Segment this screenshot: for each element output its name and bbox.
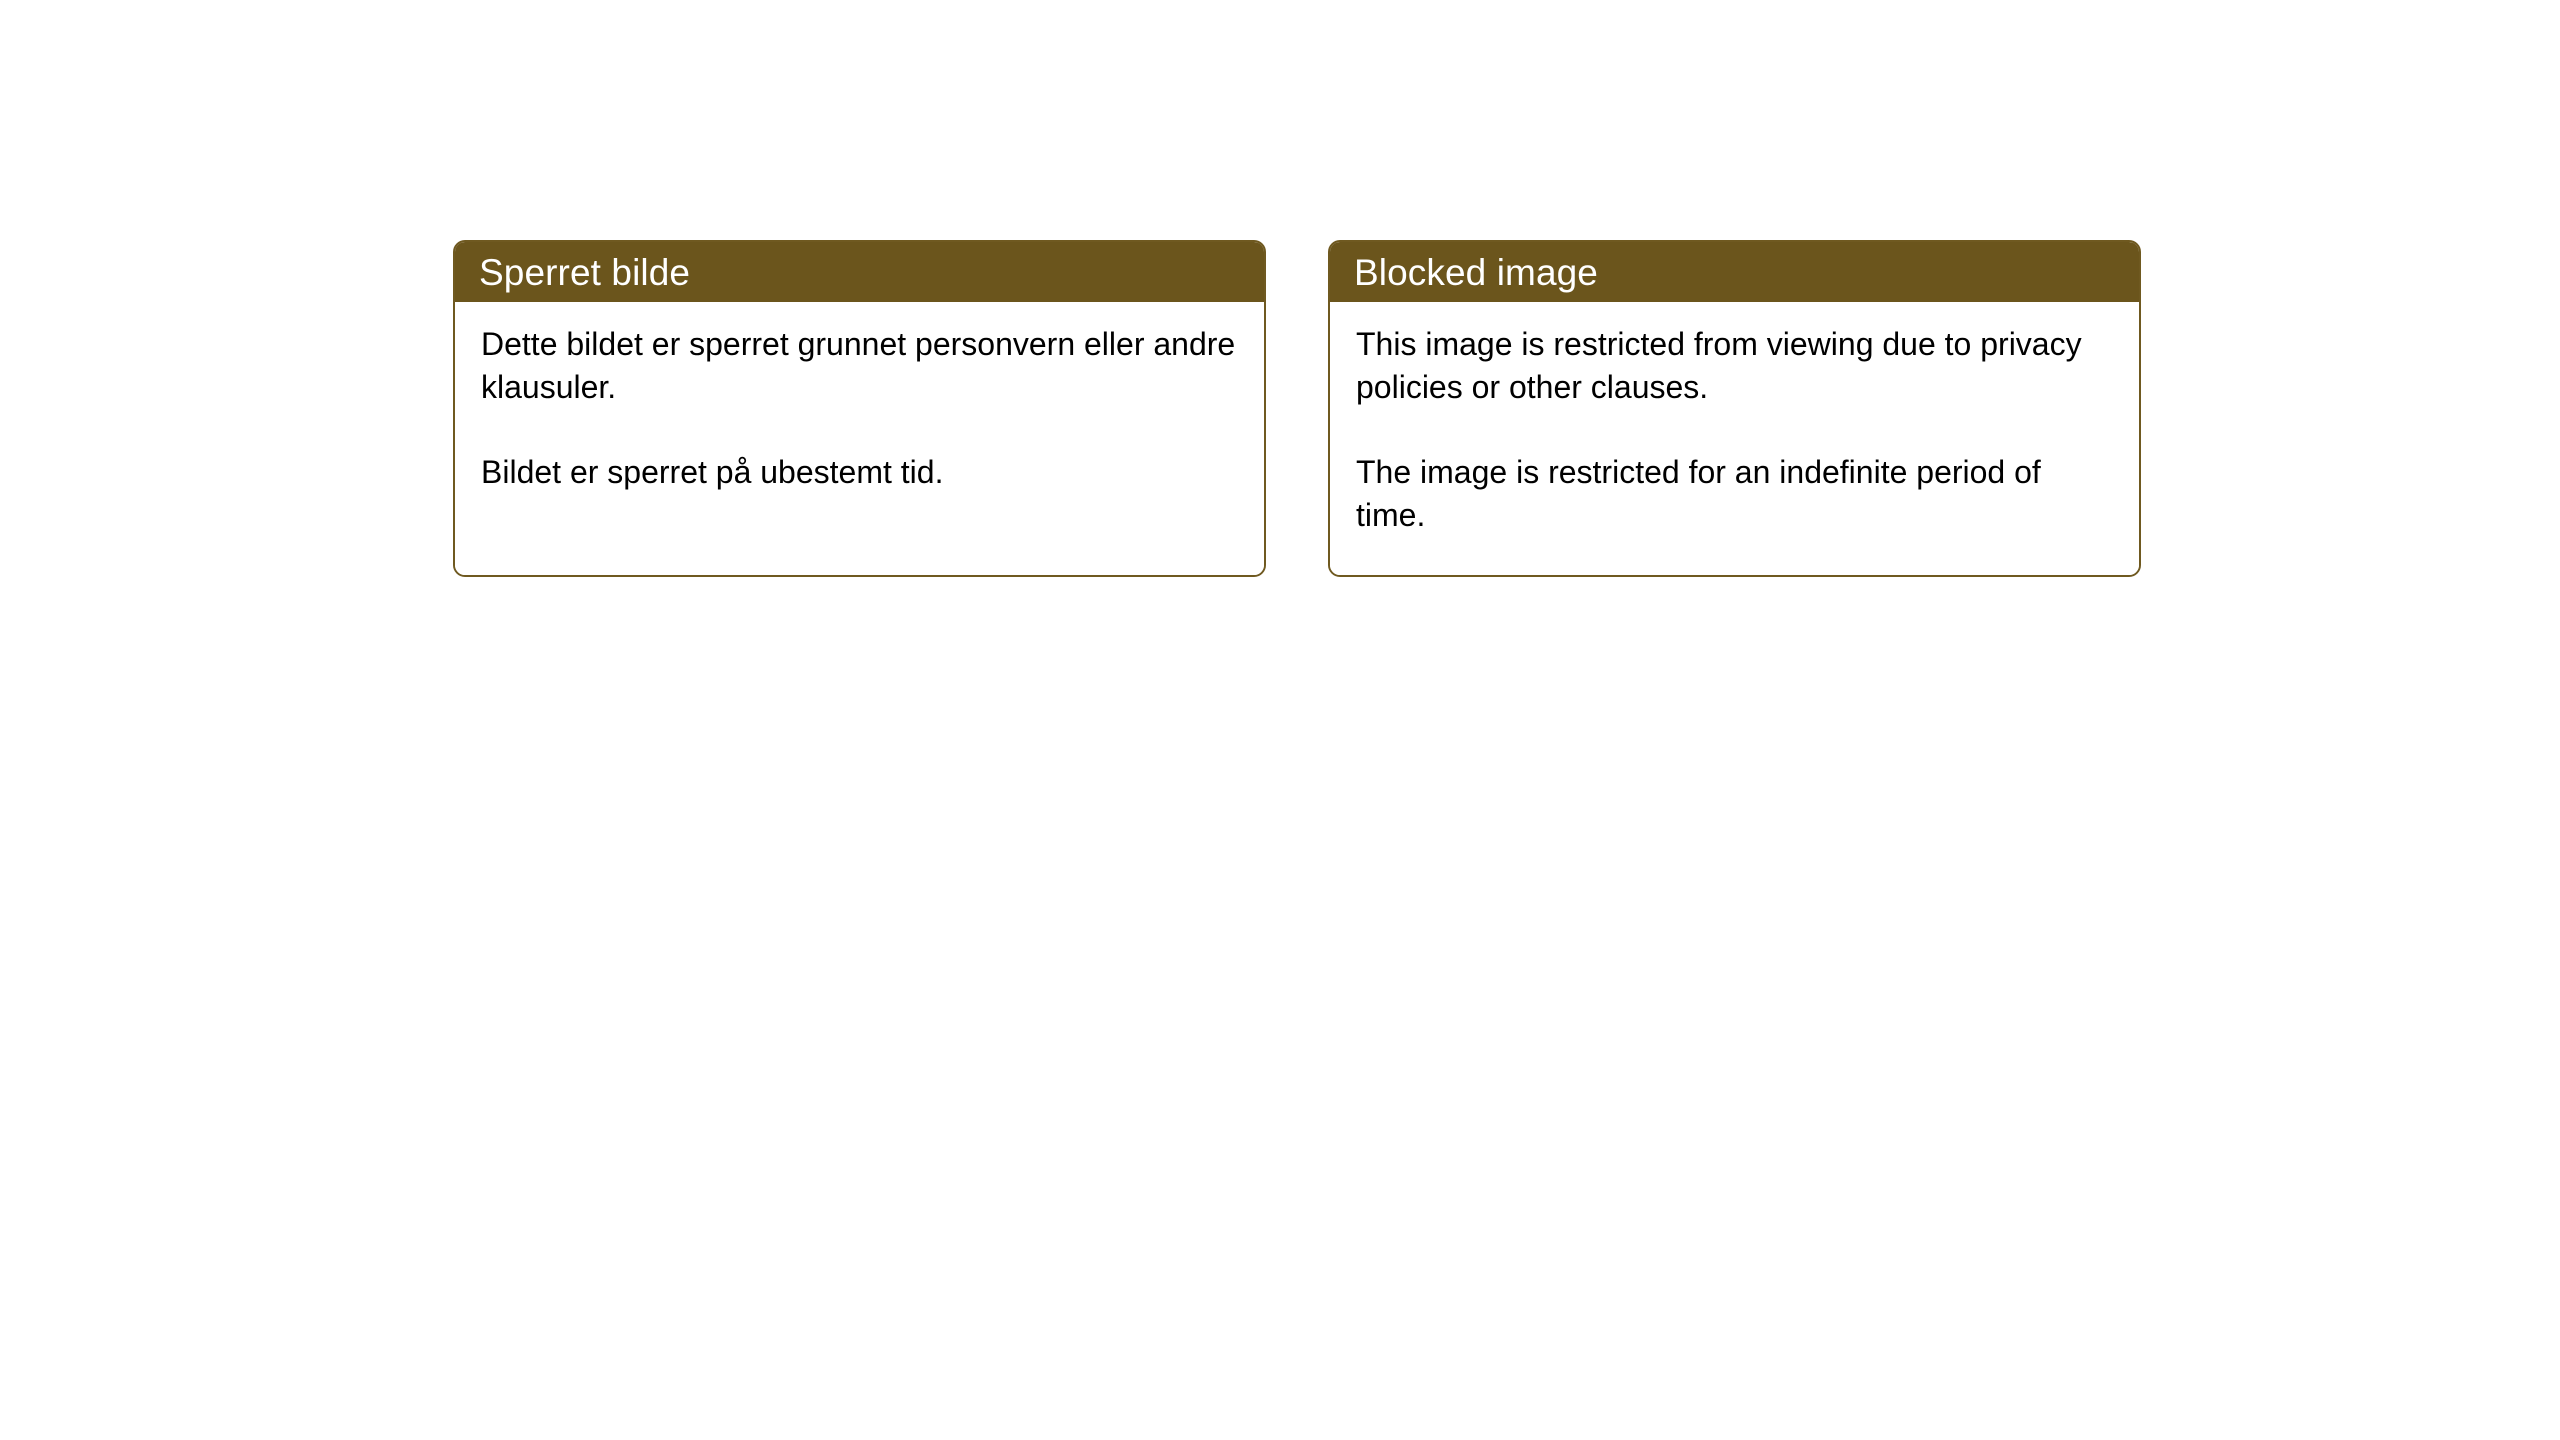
card-body-english: This image is restricted from viewing du… bbox=[1330, 302, 2139, 575]
blocked-image-card-norwegian: Sperret bilde Dette bildet er sperret gr… bbox=[453, 240, 1266, 577]
card-header-norwegian: Sperret bilde bbox=[455, 242, 1264, 302]
card-title-english: Blocked image bbox=[1354, 254, 1598, 291]
blocked-image-notice-area: Sperret bilde Dette bildet er sperret gr… bbox=[453, 240, 2141, 577]
card-paragraph-english-2: The image is restricted for an indefinit… bbox=[1356, 451, 2117, 537]
card-body-norwegian: Dette bildet er sperret grunnet personve… bbox=[455, 302, 1264, 575]
card-paragraph-norwegian-1: Dette bildet er sperret grunnet personve… bbox=[481, 323, 1242, 409]
card-header-english: Blocked image bbox=[1330, 242, 2139, 302]
card-paragraph-english-1: This image is restricted from viewing du… bbox=[1356, 323, 2117, 409]
blocked-image-card-english: Blocked image This image is restricted f… bbox=[1328, 240, 2141, 577]
card-paragraph-norwegian-2: Bildet er sperret på ubestemt tid. bbox=[481, 451, 1242, 494]
card-title-norwegian: Sperret bilde bbox=[479, 254, 690, 291]
